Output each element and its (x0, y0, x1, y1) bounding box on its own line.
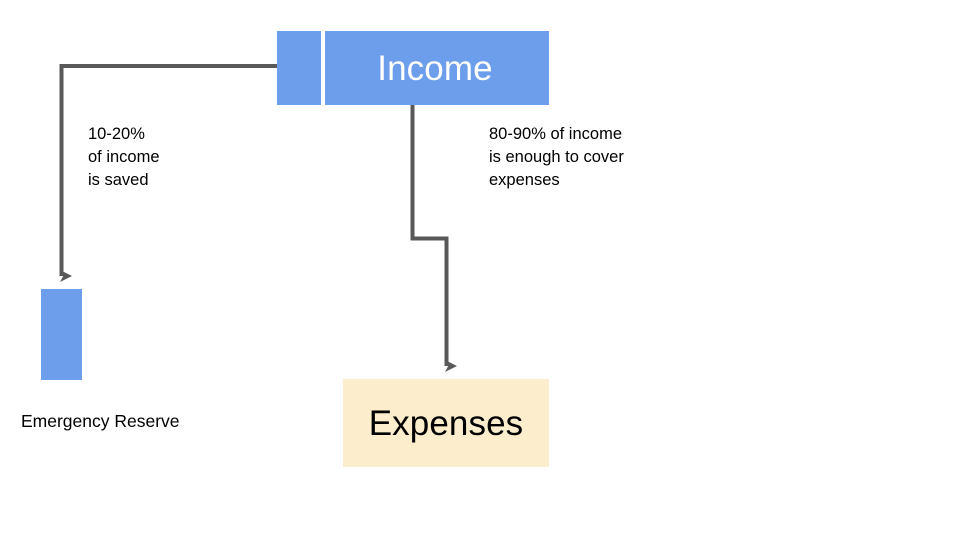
node-expenses[interactable]: Expenses (343, 379, 549, 467)
node-income-label: Income (277, 31, 549, 105)
edge-income-to-expenses (413, 105, 447, 366)
edge-label-expenses: 80-90% of income is enough to cover expe… (489, 123, 624, 192)
node-emergency-reserve[interactable] (41, 289, 82, 380)
node-expenses-label: Expenses (369, 406, 524, 441)
node-emergency-reserve-caption: Emergency Reserve (21, 410, 197, 432)
node-income[interactable]: Income (277, 31, 549, 105)
edge-label-savings: 10-20% of income is saved (88, 123, 160, 192)
diagram-canvas: Income Emergency Reserve Expenses 10-20%… (0, 0, 960, 540)
